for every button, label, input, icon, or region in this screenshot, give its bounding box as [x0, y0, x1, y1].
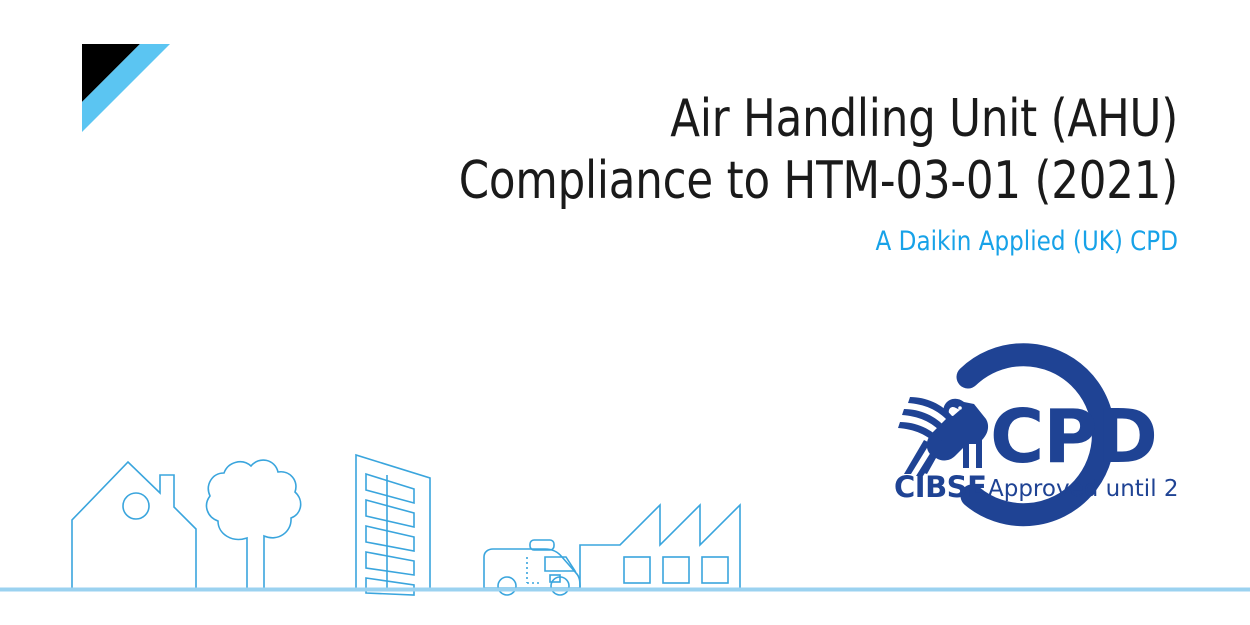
house-with-chimney — [0, 462, 196, 589]
office-building — [356, 455, 430, 595]
page-title-line-1: Air Handling Unit (AHU) — [248, 88, 1178, 150]
page-title-line-2: Compliance to HTM-03-01 (2021) — [248, 150, 1178, 212]
skyline-illustration — [0, 435, 1250, 625]
slide-canvas: Air Handling Unit (AHU) Compliance to HT… — [0, 0, 1250, 625]
tree — [207, 460, 301, 589]
daikin-triangle-logo — [62, 26, 170, 144]
page-subtitle: A Daikin Applied (UK) CPD — [228, 226, 1178, 258]
factory-sawtooth — [580, 505, 740, 589]
title-block: Air Handling Unit (AHU) Compliance to HT… — [178, 88, 1178, 258]
service-van — [484, 540, 580, 595]
